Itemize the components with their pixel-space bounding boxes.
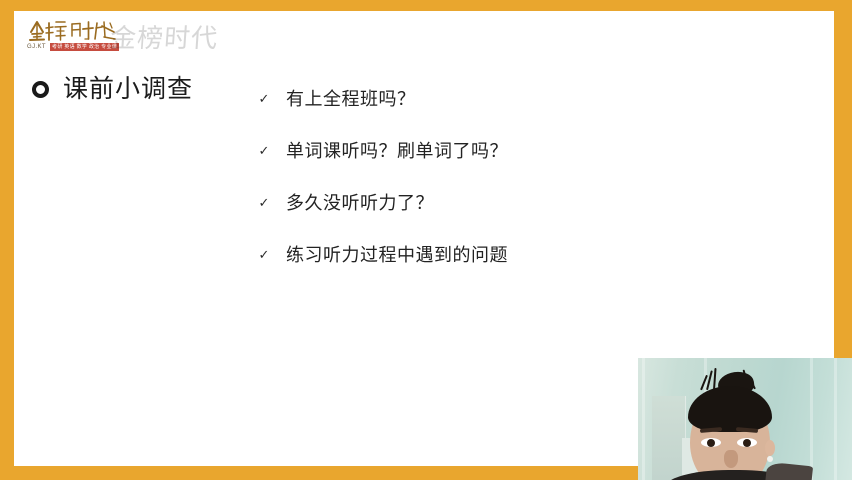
wall-seam (642, 358, 645, 480)
list-item: ✓ 练习听力过程中遇到的问题 (258, 243, 818, 295)
iris (743, 439, 751, 447)
list-item-label: 练习听力过程中遇到的问题 (286, 243, 508, 269)
eye (701, 438, 721, 447)
ring-bullet-icon (32, 81, 49, 98)
slide-frame: GJ.KT 考研 英语 数学 政治 专业课 金榜时代 课前小调查 ✓ 有上全程班… (0, 0, 852, 480)
page-title: 课前小调查 (63, 74, 193, 104)
presenter-hair (688, 386, 772, 432)
list-item: ✓ 单词课听吗？刷单词了吗？ (258, 139, 818, 191)
iris (707, 439, 715, 447)
logo-tagline: 考研 英语 数学 政治 专业课 (50, 43, 119, 51)
background-cabinet (652, 396, 686, 480)
nose (724, 450, 738, 468)
logo-wordmark-icon (26, 17, 120, 43)
check-icon: ✓ (258, 191, 270, 217)
eye (737, 438, 757, 447)
list-item-label: 多久没听听力了？ (286, 191, 434, 217)
earring (767, 456, 773, 462)
list-item: ✓ 有上全程班吗？ (258, 87, 818, 139)
ear (765, 440, 775, 456)
jacket-collar (765, 462, 813, 480)
survey-question-list: ✓ 有上全程班吗？ ✓ 单词课听吗？刷单词了吗？ ✓ 多久没听听力了？ ✓ 练习… (258, 87, 818, 295)
brand-logo: GJ.KT 考研 英语 数学 政治 专业课 (22, 16, 212, 60)
list-item-label: 单词课听吗？刷单词了吗？ (286, 139, 508, 165)
logo-abbreviation: GJ.KT (27, 44, 46, 50)
webcam-video-feed (638, 358, 852, 480)
list-item: ✓ 多久没听听力了？ (258, 191, 818, 243)
logo-subtext: GJ.KT 考研 英语 数学 政治 专业课 (27, 43, 119, 51)
check-icon: ✓ (258, 243, 270, 269)
hair-strand (706, 370, 713, 390)
check-icon: ✓ (258, 139, 270, 165)
wall-seam (834, 358, 837, 480)
list-item-label: 有上全程班吗？ (286, 87, 416, 113)
wall-seam (810, 358, 813, 480)
presenter-webcam[interactable] (638, 358, 852, 480)
slide-heading: 课前小调查 (32, 74, 193, 104)
check-icon: ✓ (258, 87, 270, 113)
